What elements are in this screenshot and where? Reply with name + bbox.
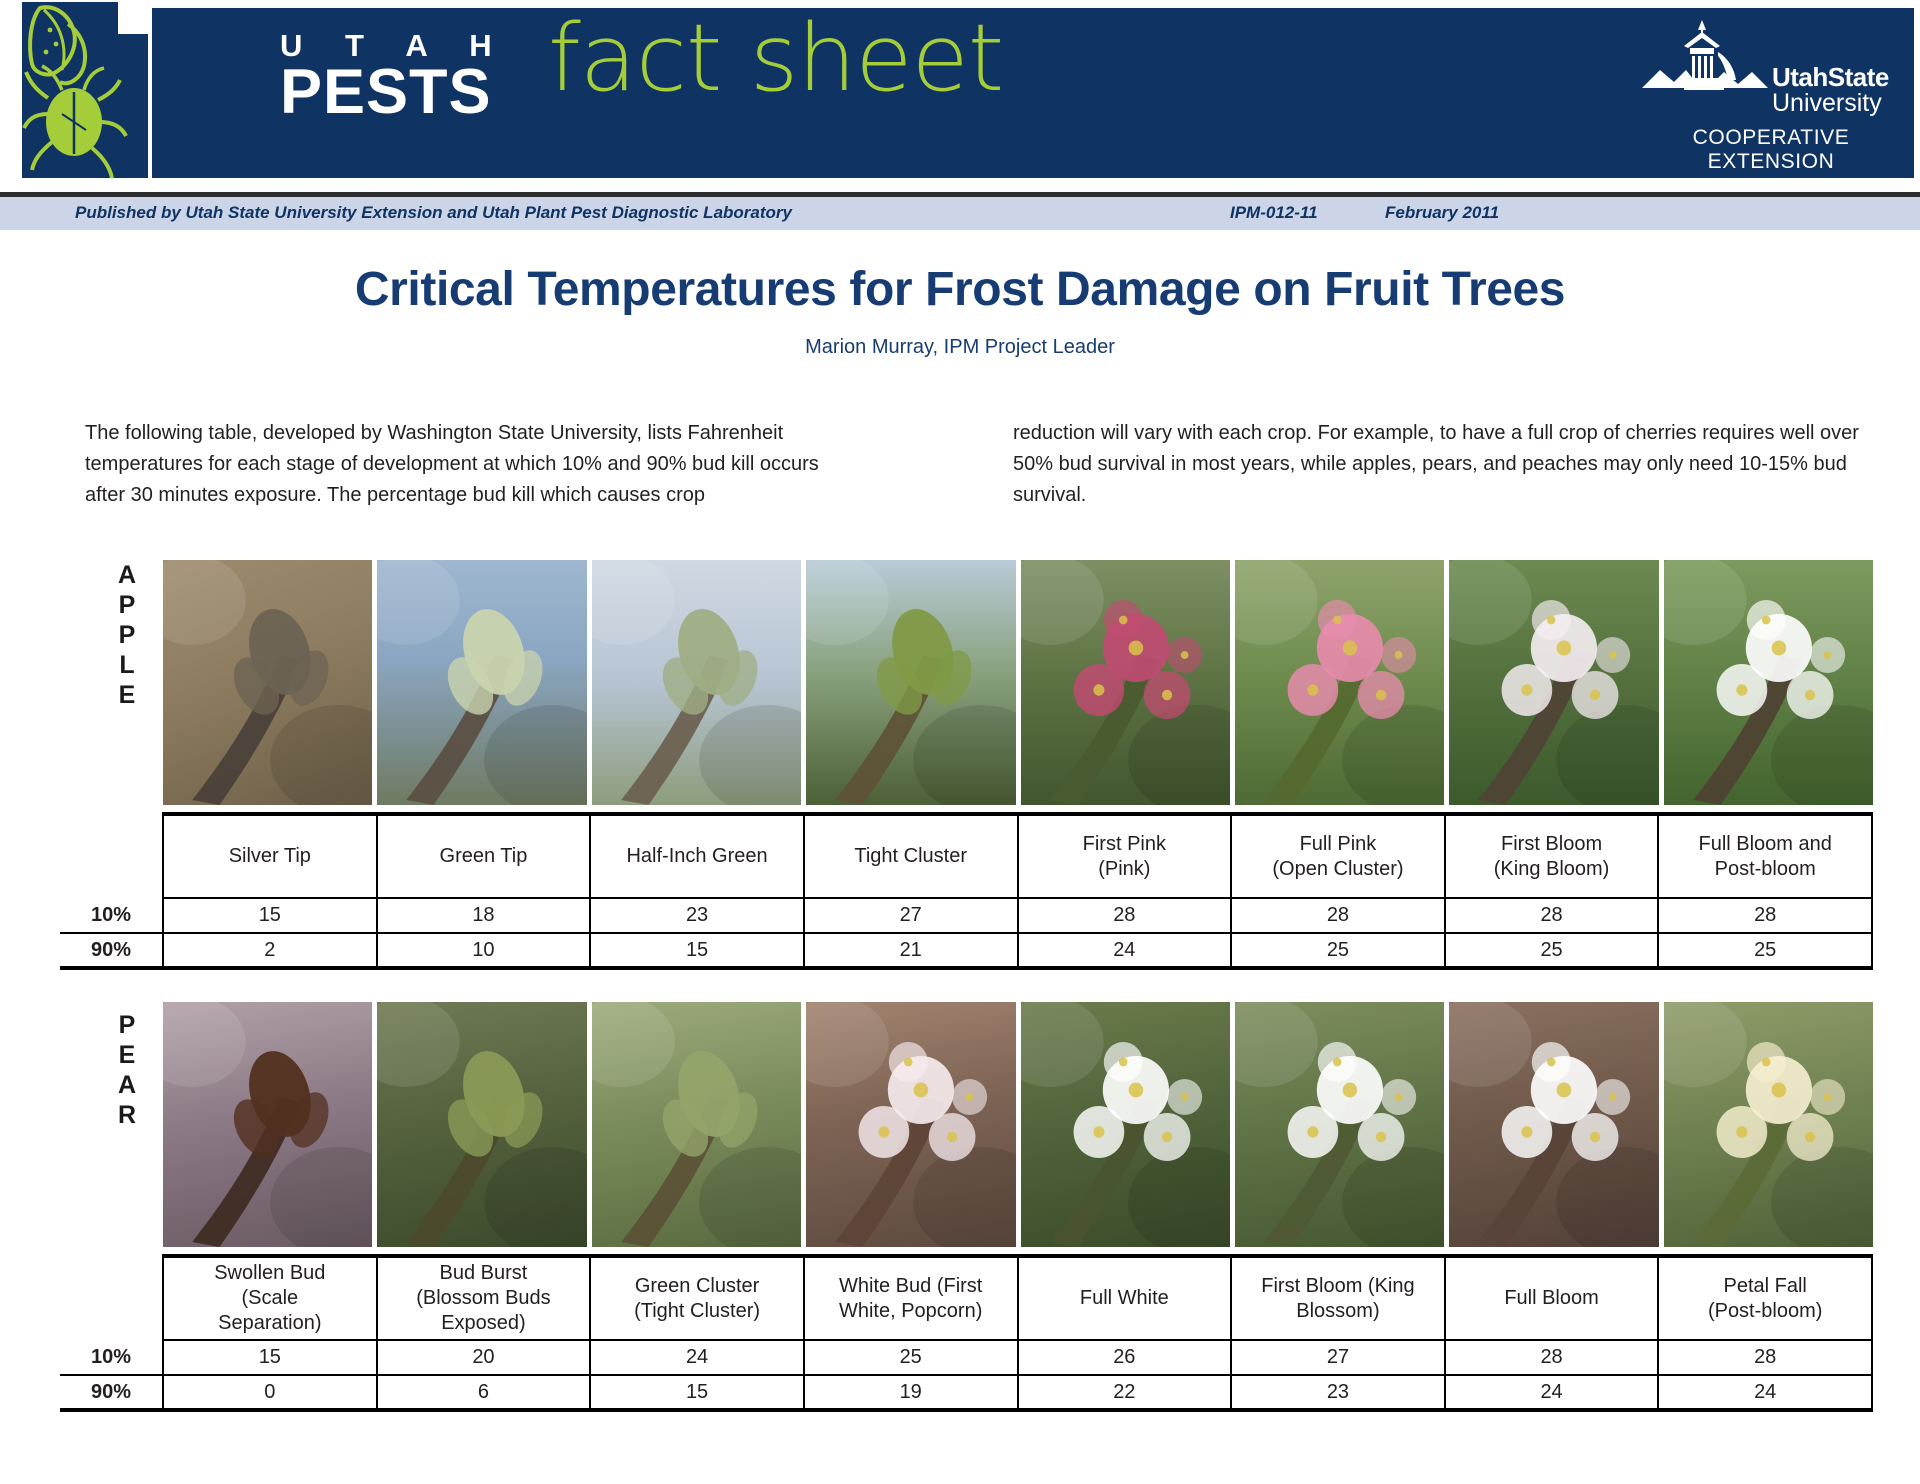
apple-crop-label: APPLE [112,560,142,710]
stage-header-cell: Green Tip [377,814,591,898]
apple-header-row: Silver TipGreen TipHalf-Inch GreenTight … [60,814,1872,898]
apple-photo-strip [163,560,1873,805]
pear-crop-label: PEAR [112,1010,142,1130]
stage-header-cell: White Bud (FirstWhite, Popcorn) [804,1256,1018,1340]
pear-photo-6 [1235,1002,1444,1247]
pear-stage-photo-6 [1235,1002,1444,1247]
wordmark-pests: PESTS [280,63,509,123]
apple-photo-6 [1235,560,1444,805]
temperature-cell: 25 [1445,933,1659,968]
stage-header-cell: Tight Cluster [804,814,1018,898]
stage-header-cell: Green Cluster(Tight Cluster) [590,1256,804,1340]
pear-photo-7 [1449,1002,1658,1247]
utah-pests-wordmark: U T A H PESTS [280,30,509,123]
pear-stage-photo-7 [1449,1002,1658,1247]
apple-stage-photo-6 [1235,560,1444,805]
temperature-cell: 15 [590,933,804,968]
stage-header-line: White Bud (First [809,1274,1013,1299]
apple-stage-photo-1 [163,560,372,805]
bud-kill-percent-label: 10% [60,898,163,933]
apple-stage-photo-4 [806,560,1015,805]
stage-header-cell: First Bloom(King Bloom) [1445,814,1659,898]
publication-date: February 2011 [1385,203,1499,223]
stage-header-line: First Bloom [1450,832,1654,857]
usu-name-line1: UtahState [1772,64,1889,90]
pear-stage-photo-3 [592,1002,801,1247]
page-title: Critical Temperatures for Frost Damage o… [0,262,1920,317]
table-row: 10%1518232728282828 [60,898,1872,933]
page-header: U T A H PESTS fact sheet UtahStat [0,0,1920,182]
apple-photo-8 [1664,560,1873,805]
stage-header-line: First Bloom (King [1236,1274,1440,1299]
crop-label-letter: A [112,560,142,590]
utah-pests-logo [22,2,152,178]
pear-temperature-table: Swollen Bud(ScaleSeparation)Bud Burst(Bl… [60,1254,1873,1412]
temperature-cell: 23 [1231,1375,1445,1410]
temperature-cell: 28 [1445,898,1659,933]
stage-header-line: Bud Burst [382,1261,586,1286]
stage-header-cell: Full Bloom andPost-bloom [1658,814,1872,898]
apple-temperature-table: Silver TipGreen TipHalf-Inch GreenTight … [60,812,1873,970]
stage-header-line: (Post-bloom) [1663,1299,1867,1324]
crop-label-letter: P [112,620,142,650]
temperature-cell: 25 [1658,933,1872,968]
stage-header-line: Half-Inch Green [595,844,799,869]
stage-header-line: Silver Tip [168,844,372,869]
pear-stage-photo-2 [377,1002,586,1247]
temperature-cell: 24 [1018,933,1232,968]
table-row: 90%210152124252525 [60,933,1872,968]
temperature-cell: 28 [1445,1340,1659,1375]
stage-header-cell: Petal Fall(Post-bloom) [1658,1256,1872,1340]
stage-header-cell: Bud Burst(Blossom BudsExposed) [377,1256,591,1340]
temperature-cell: 25 [1231,933,1445,968]
pear-stage-photo-4 [806,1002,1015,1247]
stage-header-line: (Blossom Buds [382,1286,586,1311]
stage-header-line: Swollen Bud [168,1261,372,1286]
stage-header-line: Tight Cluster [809,844,1013,869]
crop-label-letter: E [112,1040,142,1070]
stage-header-cell: Full Bloom [1445,1256,1659,1340]
apple-stage-photo-8 [1664,560,1873,805]
stage-header-line: (Tight Cluster) [595,1299,799,1324]
apple-photo-4 [806,560,1015,805]
pear-stage-photo-1 [163,1002,372,1247]
stage-header-line: First Pink [1023,832,1227,857]
apple-stage-photo-3 [592,560,801,805]
stage-header-cell: First Pink(Pink) [1018,814,1232,898]
usu-logo: UtahState University COOPERATIVE EXTENSI… [1640,18,1902,158]
stage-header-cell: Half-Inch Green [590,814,804,898]
table-row: 90%06151922232424 [60,1375,1872,1410]
stage-header-line: Full Pink [1236,832,1440,857]
temperature-cell: 0 [163,1375,377,1410]
table-corner-cell [60,814,163,898]
stage-header-line: Green Tip [382,844,586,869]
stage-header-line: (Scale [168,1286,372,1311]
temperature-cell: 23 [590,898,804,933]
temperature-cell: 28 [1658,1340,1872,1375]
temperature-cell: 28 [1018,898,1232,933]
apple-stage-photo-7 [1449,560,1658,805]
crop-label-letter: P [112,1010,142,1040]
temperature-cell: 25 [804,1340,1018,1375]
stage-header-line: (King Bloom) [1450,857,1654,882]
temperature-cell: 19 [804,1375,1018,1410]
pear-photo-2 [377,1002,586,1247]
stage-header-line: White, Popcorn) [809,1299,1013,1324]
temperature-cell: 26 [1018,1340,1232,1375]
temperature-cell: 15 [163,1340,377,1375]
crop-label-letter: L [112,650,142,680]
published-by-text: Published by Utah State University Exten… [75,203,792,223]
table-row: 10%1520242526272828 [60,1340,1872,1375]
apple-stage-photo-2 [377,560,586,805]
old-main-tower-icon [1640,18,1770,122]
temperature-cell: 15 [163,898,377,933]
pear-photo-4 [806,1002,1015,1247]
apple-photo-2 [377,560,586,805]
bud-kill-percent-label: 90% [60,933,163,968]
author-byline: Marion Murray, IPM Project Leader [0,336,1920,359]
stage-header-line: Separation) [168,1311,372,1336]
pear-photo-3 [592,1002,801,1247]
temperature-cell: 6 [377,1375,591,1410]
intro-paragraph-left: The following table, developed by Washin… [85,418,855,511]
stage-header-line: Full Bloom [1450,1286,1654,1311]
pear-stage-photo-8 [1664,1002,1873,1247]
temperature-cell: 18 [377,898,591,933]
publication-code: IPM-012-11 [1230,203,1318,223]
pear-photo-strip [163,1002,1873,1247]
temperature-cell: 15 [590,1375,804,1410]
apple-photo-7 [1449,560,1658,805]
fact-sheet-page: U T A H PESTS fact sheet UtahStat [0,0,1920,1484]
pear-header-row: Swollen Bud(ScaleSeparation)Bud Burst(Bl… [60,1256,1872,1340]
temperature-cell: 24 [590,1340,804,1375]
temperature-cell: 10 [377,933,591,968]
apple-photo-3 [592,560,801,805]
temperature-cell: 22 [1018,1375,1232,1410]
stage-header-line: (Pink) [1023,857,1227,882]
stage-header-line: Blossom) [1236,1299,1440,1324]
stage-header-cell: Full White [1018,1256,1232,1340]
stage-header-cell: Swollen Bud(ScaleSeparation) [163,1256,377,1340]
pear-photo-1 [163,1002,372,1247]
stage-header-line: Green Cluster [595,1274,799,1299]
temperature-cell: 24 [1658,1375,1872,1410]
stage-header-line: Post-bloom [1663,857,1867,882]
temperature-cell: 27 [1231,1340,1445,1375]
usu-name-line2: University [1772,91,1889,116]
bud-kill-percent-label: 90% [60,1375,163,1410]
crop-label-letter: E [112,680,142,710]
temperature-cell: 28 [1658,898,1872,933]
temperature-cell: 24 [1445,1375,1659,1410]
insect-leaf-icon [22,2,152,178]
table-corner-cell [60,1256,163,1340]
crop-label-letter: P [112,590,142,620]
stage-header-cell: Silver Tip [163,814,377,898]
apple-stage-photo-5 [1021,560,1230,805]
stage-header-line: (Open Cluster) [1236,857,1440,882]
temperature-cell: 21 [804,933,1018,968]
crop-label-letter: A [112,1070,142,1100]
apple-photo-5 [1021,560,1230,805]
stage-header-cell: Full Pink(Open Cluster) [1231,814,1445,898]
stage-header-line: Petal Fall [1663,1274,1867,1299]
cooperative-extension-label: COOPERATIVE EXTENSION [1640,126,1902,174]
pear-stage-photo-5 [1021,1002,1230,1247]
stage-header-line: Full White [1023,1286,1227,1311]
pear-photo-5 [1021,1002,1230,1247]
stage-header-line: Full Bloom and [1663,832,1867,857]
stage-header-cell: First Bloom (KingBlossom) [1231,1256,1445,1340]
wordmark-fact-sheet: fact sheet [548,12,1003,105]
temperature-cell: 28 [1231,898,1445,933]
stage-header-line: Exposed) [382,1311,586,1336]
pear-photo-8 [1664,1002,1873,1247]
crop-label-letter: R [112,1100,142,1130]
apple-photo-1 [163,560,372,805]
temperature-cell: 2 [163,933,377,968]
intro-paragraph-right: reduction will vary with each crop. For … [1013,418,1868,511]
usu-name: UtahState University [1772,64,1889,116]
temperature-cell: 20 [377,1340,591,1375]
bud-kill-percent-label: 10% [60,1340,163,1375]
temperature-cell: 27 [804,898,1018,933]
